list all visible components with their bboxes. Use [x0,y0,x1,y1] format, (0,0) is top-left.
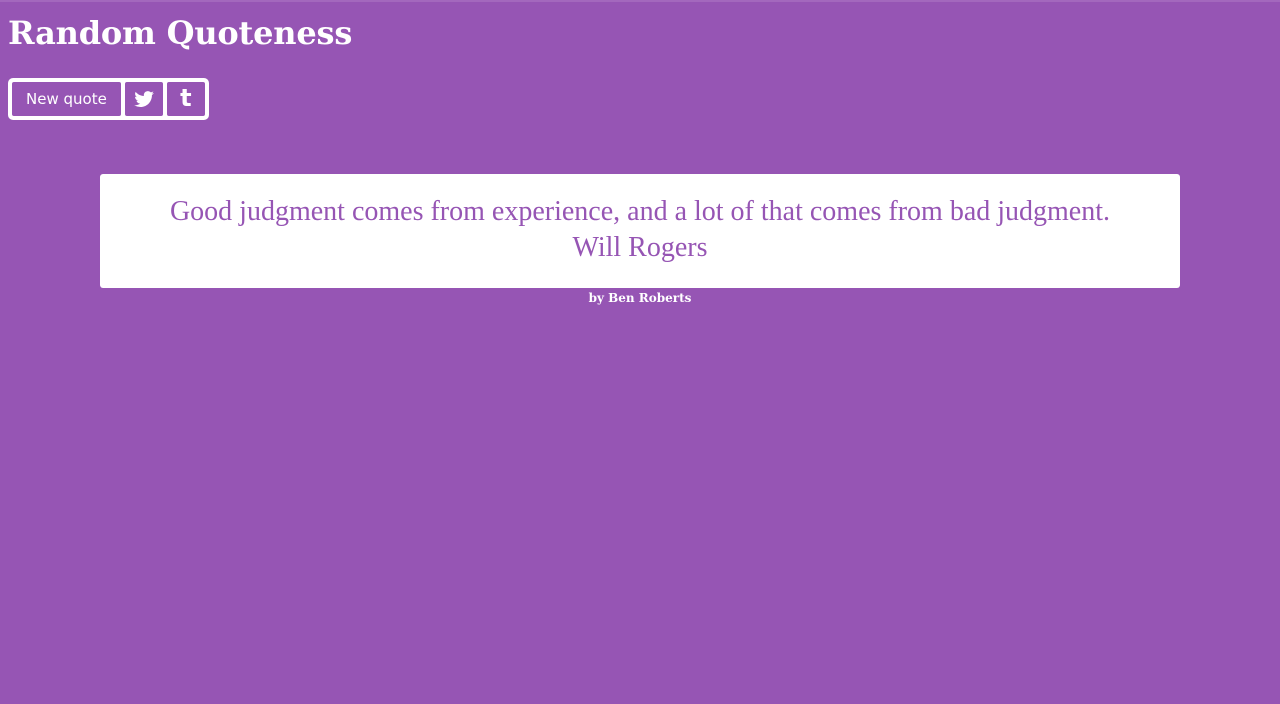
page-title: Random Quoteness [8,14,352,52]
quote-author: Will Rogers [120,230,1160,266]
quote-block: Good judgment comes from experience, and… [120,194,1160,266]
footer-credit: by Ben Roberts [0,290,1280,306]
tumblr-share-button[interactable]: t [167,82,205,116]
tumblr-icon: t [180,86,191,110]
app-root: { "app": { "title": "Random Quoteness", … [0,0,1280,704]
twitter-bird-icon [134,89,154,109]
quote-text: Good judgment comes from experience, and… [170,196,1110,227]
action-button-group: New quote t [8,78,209,120]
quote-card: Good judgment comes from experience, and… [100,174,1180,288]
new-quote-button[interactable]: New quote [12,82,121,116]
tweet-quote-button[interactable] [125,82,163,116]
